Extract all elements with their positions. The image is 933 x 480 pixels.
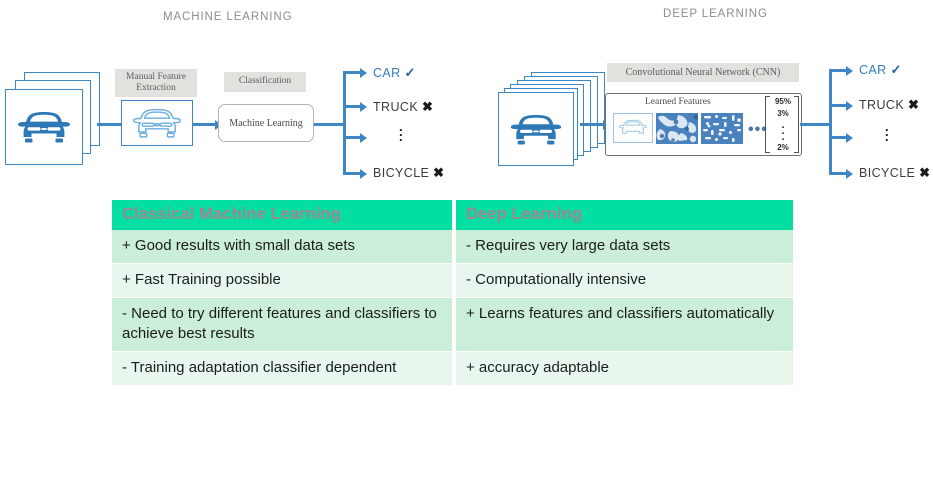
branch-arrow-head <box>846 169 853 179</box>
feature-map-tile-1 <box>656 113 698 144</box>
branch-arrow-head <box>846 133 853 143</box>
machine-learning-diagram-title: MACHINE LEARNING <box>163 11 292 23</box>
table-row: - Need to try different features and cla… <box>112 298 793 352</box>
connector-arrow <box>580 123 605 126</box>
learned-features-label: Learned Features <box>645 97 711 107</box>
cell-classical-1: + Good results with small data sets <box>112 230 456 264</box>
cell-classical-3: - Need to try different features and cla… <box>112 298 456 352</box>
connector-arrow <box>800 123 831 126</box>
cell-deep-1: - Requires very large data sets <box>456 230 793 264</box>
bracket-right-icon <box>794 96 799 153</box>
column-header-classical-ml: Classical Machine Learning <box>112 200 456 230</box>
ml-output-truck: TRUCK ✖ <box>373 99 433 115</box>
probability-top: 95% <box>775 97 791 106</box>
branch-arrow-head <box>360 102 367 112</box>
machine-learning-model-box: Machine Learning <box>218 104 314 142</box>
dl-output-ellipsis-icon: ... <box>885 124 889 139</box>
dl-output-truck-label: TRUCK <box>859 98 904 112</box>
ml-output-car-label: CAR <box>373 66 401 80</box>
ml-output-ellipsis-icon: ... <box>399 124 403 139</box>
caption-line-2: Extraction <box>136 83 176 93</box>
cross-icon: ✖ <box>908 97 919 112</box>
probability-vector: 95% 3% ... 2% <box>769 96 797 153</box>
car-outline-icon <box>617 118 649 138</box>
car-icon <box>506 111 566 148</box>
cell-deep-4: + accuracy adaptable <box>456 352 793 386</box>
connector-trunk <box>829 69 832 175</box>
table-row: - Training adaptation classifier depende… <box>112 352 793 386</box>
dl-output-bicycle: BICYCLE ✖ <box>859 165 930 181</box>
image-front-car <box>498 92 574 166</box>
connector-arrow <box>314 123 345 126</box>
connector-trunk <box>343 71 346 175</box>
cell-deep-2: - Computationally intensive <box>456 264 793 298</box>
dl-input-image-stack <box>498 72 608 172</box>
ml-input-image-stack <box>4 72 106 170</box>
table-header-row: Classical Machine Learning Deep Learning <box>112 200 793 230</box>
branch-arrow-head <box>846 101 853 111</box>
branch-arrow-head <box>360 169 367 179</box>
probability-second: 3% <box>777 109 789 118</box>
cell-classical-4: - Training adaptation classifier depende… <box>112 352 456 386</box>
branch-arrow-head <box>360 68 367 78</box>
comparison-table: Classical Machine Learning Deep Learning… <box>112 200 793 386</box>
dl-output-car: CAR ✓ <box>859 62 902 78</box>
cross-icon: ✖ <box>919 165 930 180</box>
table-row: + Good results with small data sets - Re… <box>112 230 793 264</box>
column-header-deep-learning: Deep Learning <box>456 200 793 230</box>
bracket-left-icon <box>765 96 770 153</box>
ml-output-bicycle: BICYCLE ✖ <box>373 165 444 181</box>
feature-map-tile-2 <box>701 113 743 144</box>
car-icon <box>13 108 75 146</box>
caption-line-1: Manual Feature <box>126 72 186 82</box>
feature-tile-input <box>613 113 653 143</box>
ml-output-car: CAR ✓ <box>373 65 416 81</box>
cross-icon: ✖ <box>433 165 444 180</box>
branch-arrow-head <box>846 66 853 76</box>
branch-arrow-head <box>360 133 367 143</box>
manual-feature-extraction-box <box>121 100 193 146</box>
manual-feature-extraction-caption: Manual Feature Extraction <box>115 69 197 97</box>
cross-icon: ✖ <box>422 99 433 114</box>
connector-arrow <box>193 123 217 126</box>
classification-caption-label: Classification <box>239 76 291 88</box>
table-row: + Fast Training possible - Computational… <box>112 264 793 298</box>
cnn-caption-label: Convolutional Neural Network (CNN) <box>626 67 781 79</box>
ml-output-bicycle-label: BICYCLE <box>373 166 429 180</box>
image-front-car <box>5 89 83 165</box>
classification-caption: Classification <box>224 72 306 92</box>
probability-ellipsis-icon: ... <box>781 122 784 140</box>
check-icon: ✓ <box>404 65 415 80</box>
cnn-caption: Convolutional Neural Network (CNN) <box>607 63 799 82</box>
probability-bottom: 2% <box>777 143 789 152</box>
dl-output-car-label: CAR <box>859 63 887 77</box>
cell-classical-2: + Fast Training possible <box>112 264 456 298</box>
dl-output-truck: TRUCK ✖ <box>859 97 919 113</box>
car-outline-icon <box>129 106 185 140</box>
ml-output-truck-label: TRUCK <box>373 100 418 114</box>
check-icon: ✓ <box>890 62 901 77</box>
cell-deep-3: + Learns features and classifiers automa… <box>456 298 793 352</box>
deep-learning-diagram-title: DEEP LEARNING <box>663 8 768 20</box>
machine-learning-model-label: Machine Learning <box>229 118 303 129</box>
dl-output-bicycle-label: BICYCLE <box>859 166 915 180</box>
